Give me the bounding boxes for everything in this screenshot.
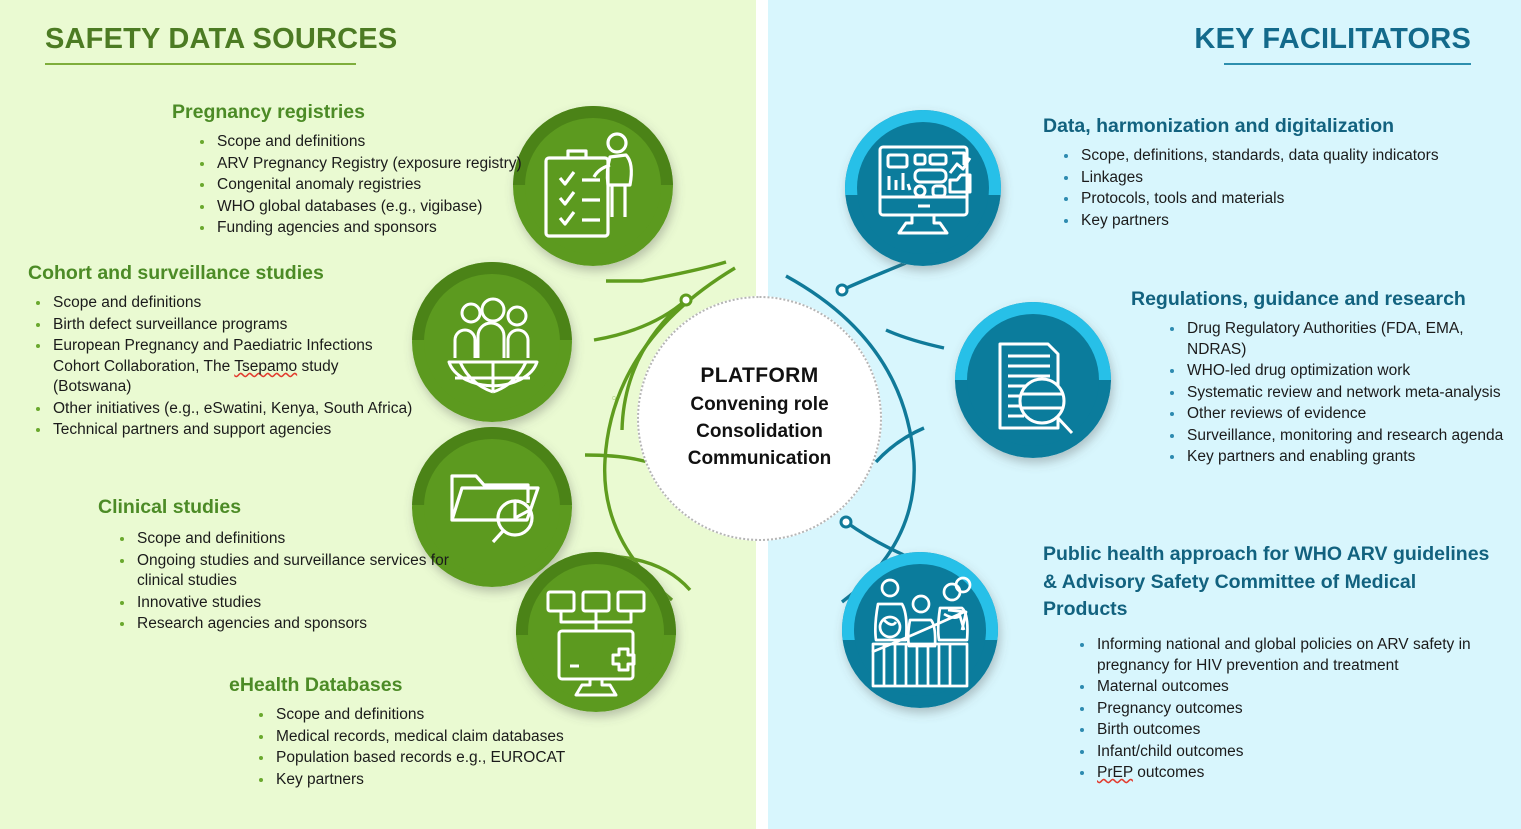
heading-pregnancy-registries: Pregnancy registries <box>172 100 532 125</box>
list-item: Congenital anomaly registries <box>192 175 532 196</box>
list-item: Pregnancy outcomes <box>1072 699 1503 720</box>
right-panel-header: KEY FACILITATORS <box>1194 23 1471 65</box>
block-regulations-guidance-and-research: Regulations, guidance and research Drug … <box>1131 287 1521 469</box>
list-ehealth-databases: Scope and definitions Medical records, m… <box>251 705 589 790</box>
list-item: Informing national and global policies o… <box>1072 635 1503 676</box>
list-item: Protocols, tools and materials <box>1056 189 1513 210</box>
list-item: Key partners <box>1056 211 1513 232</box>
list-item: Population based records e.g., EUROCAT <box>251 748 589 769</box>
list-regulations-guidance-and-research: Drug Regulatory Authorities (FDA, EMA, N… <box>1162 319 1521 468</box>
list-pregnancy-registries: Scope and definitions ARV Pregnancy Regi… <box>192 132 532 239</box>
platform-role-3: Communication <box>688 446 832 473</box>
block-clinical-studies: Clinical studies Scope and definitions O… <box>98 495 458 636</box>
list-item: Scope, definitions, standards, data qual… <box>1056 146 1513 167</box>
platform-title: PLATFORM <box>700 364 818 388</box>
list-item: Birth outcomes <box>1072 720 1503 741</box>
platform-hub: PLATFORM Convening role Consolidation Co… <box>637 296 882 541</box>
list-item: Linkages <box>1056 168 1513 189</box>
list-item: Scope and definitions <box>28 293 420 314</box>
heading-data-harmonization-and-digitalization: Data, harmonization and digitalization <box>1043 114 1513 139</box>
list-clinical-studies: Scope and definitions Ongoing studies an… <box>112 529 458 635</box>
list-item: Key partners <box>251 770 589 791</box>
list-item: Ongoing studies and surveillance service… <box>112 551 458 592</box>
list-item: Technical partners and support agencies <box>28 420 420 441</box>
list-item: Drug Regulatory Authorities (FDA, EMA, N… <box>1162 319 1521 360</box>
list-item: Other reviews of evidence <box>1162 404 1521 425</box>
left-panel-title: SAFETY DATA SOURCES <box>45 23 397 56</box>
list-item: Research agencies and sponsors <box>112 614 458 635</box>
list-item: ARV Pregnancy Registry (exposure registr… <box>192 154 532 175</box>
list-item: Systematic review and network meta-analy… <box>1162 383 1521 404</box>
list-cohort-and-surveillance-studies: Scope and definitions Birth defect surve… <box>28 293 420 441</box>
infographic-stage: SAFETY DATA SOURCES KEY FACILITATORS Pre… <box>0 0 1521 829</box>
list-public-health-approach: Informing national and global policies o… <box>1072 635 1503 784</box>
block-cohort-and-surveillance-studies: Cohort and surveillance studies Scope an… <box>28 261 420 442</box>
list-data-harmonization-and-digitalization: Scope, definitions, standards, data qual… <box>1056 146 1513 231</box>
spellcheck-word: PrEP <box>1097 764 1133 781</box>
list-item: WHO-led drug optimization work <box>1162 361 1521 382</box>
left-panel-header: SAFETY DATA SOURCES <box>45 23 397 65</box>
list-item: Scope and definitions <box>192 132 532 153</box>
heading-clinical-studies: Clinical studies <box>98 495 458 520</box>
list-item: Surveillance, monitoring and research ag… <box>1162 426 1521 447</box>
list-item: Funding agencies and sponsors <box>192 218 532 239</box>
right-header-rule <box>1224 63 1471 65</box>
list-item: Scope and definitions <box>251 705 589 726</box>
left-header-rule <box>45 63 356 65</box>
block-public-health-approach: Public health approach for WHO ARV guide… <box>1043 541 1503 785</box>
block-ehealth-databases: eHealth Databases Scope and definitions … <box>229 673 589 791</box>
list-item: WHO global databases (e.g., vigibase) <box>192 197 532 218</box>
list-item: Medical records, medical claim databases <box>251 727 589 748</box>
list-item: European Pregnancy and Paediatric Infect… <box>28 336 420 398</box>
platform-role-2: Consolidation <box>696 419 823 446</box>
list-item: Other initiatives (e.g., eSwatini, Kenya… <box>28 399 420 420</box>
spellcheck-word: Tsepamo <box>234 358 297 375</box>
heading-regulations-guidance-and-research: Regulations, guidance and research <box>1131 287 1521 312</box>
heading-public-health-approach: Public health approach for WHO ARV guide… <box>1043 541 1503 624</box>
right-panel-title: KEY FACILITATORS <box>1194 23 1471 56</box>
list-item: Maternal outcomes <box>1072 677 1503 698</box>
list-item: Scope and definitions <box>112 529 458 550</box>
heading-ehealth-databases: eHealth Databases <box>229 673 589 698</box>
block-pregnancy-registries: Pregnancy registries Scope and definitio… <box>172 100 532 240</box>
block-data-harmonization-and-digitalization: Data, harmonization and digitalization S… <box>1043 114 1513 232</box>
list-item: PrEP outcomes <box>1072 763 1503 784</box>
list-item: Infant/child outcomes <box>1072 742 1503 763</box>
heading-cohort-and-surveillance-studies: Cohort and surveillance studies <box>28 261 420 286</box>
list-item: Key partners and enabling grants <box>1162 447 1521 468</box>
list-item: Innovative studies <box>112 593 458 614</box>
list-item: Birth defect surveillance programs <box>28 315 420 336</box>
platform-role-1: Convening role <box>690 392 828 419</box>
